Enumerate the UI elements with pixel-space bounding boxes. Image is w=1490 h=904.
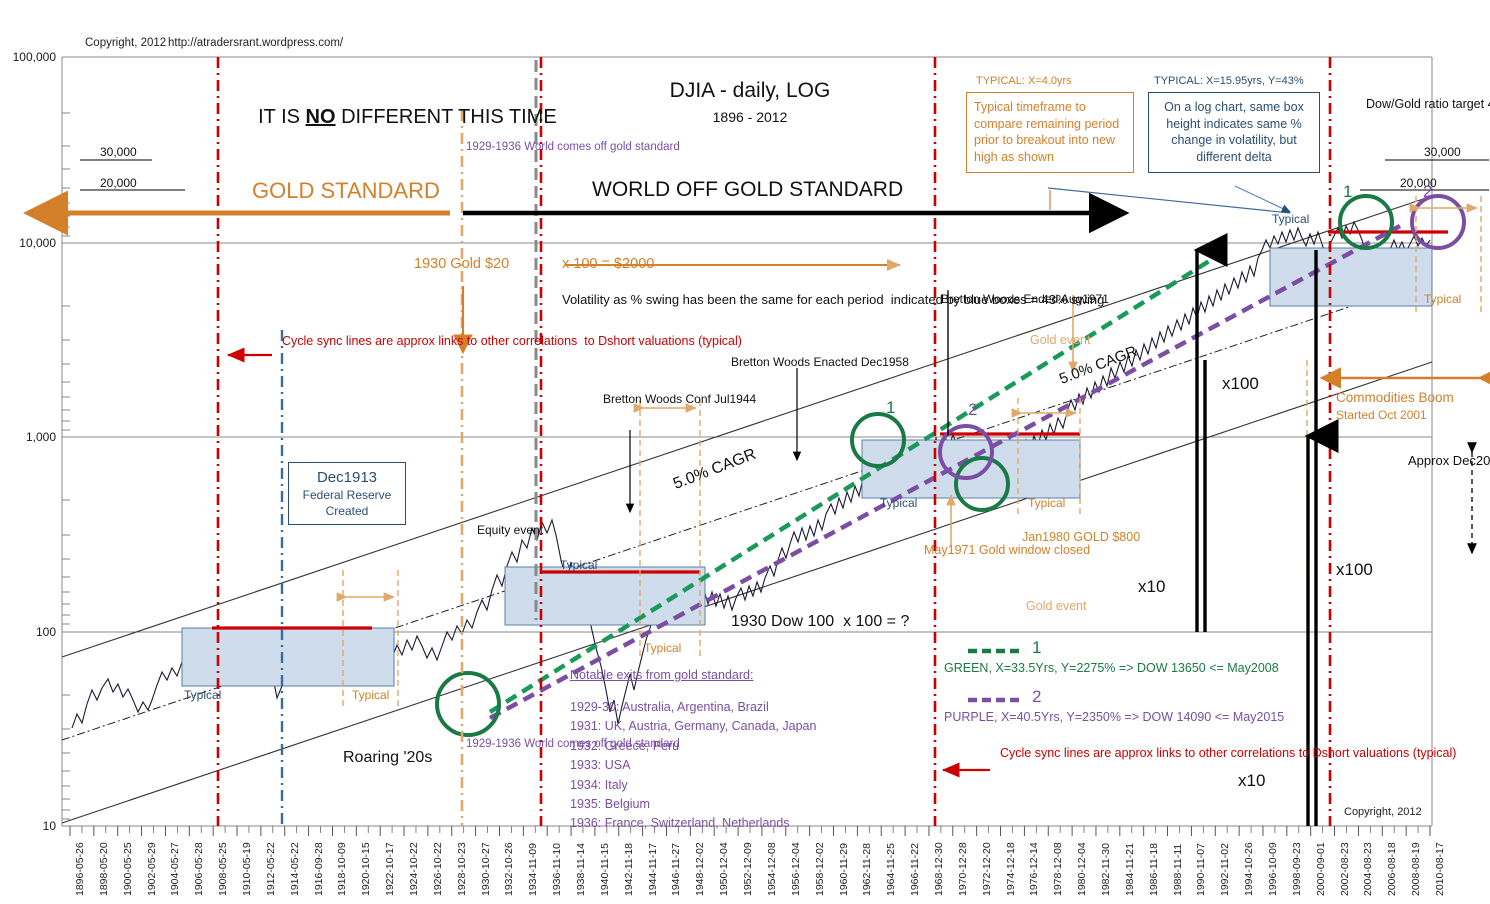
x-tick-label: 1982-11-30 <box>1100 843 1112 896</box>
x-tick-label: 1932-10-26 <box>503 842 515 896</box>
x-tick-label: 1948-12-02 <box>694 842 706 896</box>
x-tick-label: 1906-05-28 <box>193 842 205 896</box>
x-tick-label: 1904-05-27 <box>169 842 181 896</box>
x-tick-label: 1908-05-25 <box>217 842 229 896</box>
x-tick-label: 1990-11-07 <box>1195 843 1207 896</box>
x-tick-label: 1930-10-27 <box>480 842 492 896</box>
x-tick-label: 1974-12-18 <box>1005 842 1017 896</box>
x-tick-label: 1922-10-17 <box>384 842 396 896</box>
x-tick-label: 1954-12-08 <box>766 842 778 896</box>
x-tick-label: 1962-11-28 <box>861 843 873 896</box>
x-tick-label: 1942-11-18 <box>623 843 635 896</box>
x-tick-label: 1934-11-09 <box>527 843 539 896</box>
x-tick-label: 1916-09-28 <box>313 842 325 896</box>
x-axis-labels: 1896-05-261898-05-201900-05-251902-05-29… <box>0 0 1490 904</box>
x-tick-label: 1984-11-21 <box>1124 843 1136 896</box>
x-tick-label: 1978-12-08 <box>1052 842 1064 896</box>
x-tick-label: 1970-12-28 <box>957 842 969 896</box>
x-tick-label: 1920-10-15 <box>360 842 372 896</box>
x-tick-label: 1950-12-04 <box>718 842 730 896</box>
x-tick-label: 1938-11-14 <box>575 843 587 896</box>
x-tick-label: 1914-05-22 <box>289 842 301 896</box>
x-tick-label: 2002-08-23 <box>1339 842 1351 896</box>
x-tick-label: 1924-10-22 <box>408 842 420 896</box>
x-tick-label: 1980-12-04 <box>1076 842 1088 896</box>
x-tick-label: 1912-05-22 <box>265 842 277 896</box>
x-tick-label: 1996-10-09 <box>1267 842 1279 896</box>
x-tick-label: 1936-11-10 <box>551 843 563 896</box>
x-tick-label: 1956-12-04 <box>790 842 802 896</box>
x-tick-label: 1968-12-30 <box>933 842 945 896</box>
x-tick-label: 1900-05-25 <box>122 842 134 896</box>
x-tick-label: 1960-11-29 <box>838 843 850 896</box>
x-tick-label: 1952-12-09 <box>742 842 754 896</box>
x-tick-label: 1976-12-14 <box>1028 842 1040 896</box>
x-tick-label: 1918-10-09 <box>336 842 348 896</box>
x-tick-label: 1896-05-26 <box>74 842 86 896</box>
x-tick-label: 2004-08-23 <box>1362 842 1374 896</box>
x-tick-label: 1966-11-22 <box>909 843 921 896</box>
x-tick-label: 1988-11-11 <box>1172 844 1184 896</box>
x-tick-label: 1910-05-19 <box>241 842 253 896</box>
x-tick-label: 1926-10-22 <box>432 842 444 896</box>
x-tick-label: 1964-11-25 <box>885 843 897 896</box>
x-tick-label: 2010-08-17 <box>1434 842 1446 896</box>
x-tick-label: 2006-08-18 <box>1386 842 1398 896</box>
x-tick-label: 1986-11-18 <box>1148 843 1160 896</box>
x-tick-label: 1958-12-02 <box>814 842 826 896</box>
x-tick-label: 1972-12-20 <box>981 842 993 896</box>
x-tick-label: 1928-10-23 <box>456 842 468 896</box>
x-tick-label: 1946-11-27 <box>670 843 682 896</box>
x-tick-label: 1998-09-23 <box>1291 842 1303 896</box>
x-tick-label: 2000-09-01 <box>1315 842 1327 896</box>
x-tick-label: 1944-11-17 <box>647 843 659 896</box>
x-tick-label: 1992-11-02 <box>1219 843 1231 896</box>
x-tick-label: 1940-11-15 <box>599 843 611 896</box>
x-tick-label: 1994-10-26 <box>1243 842 1255 896</box>
x-tick-label: 1902-05-29 <box>146 842 158 896</box>
x-tick-label: 1898-05-20 <box>98 842 110 896</box>
x-tick-label: 2008-08-19 <box>1410 842 1422 896</box>
